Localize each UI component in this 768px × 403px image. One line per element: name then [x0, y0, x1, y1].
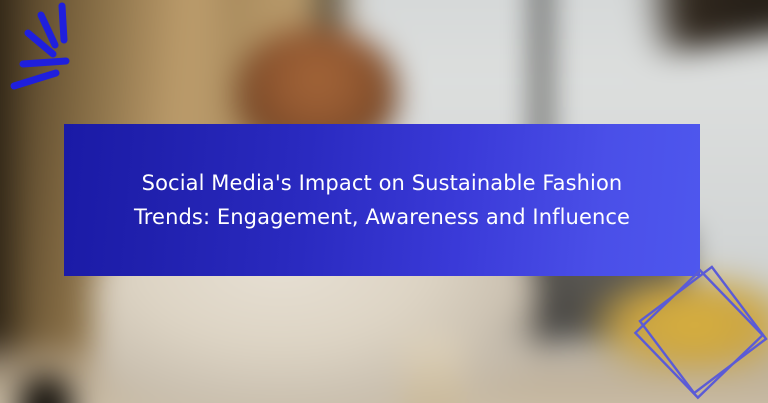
background-desk-glass	[401, 336, 465, 403]
decorative-square-1	[635, 270, 762, 397]
sparkle-burst-icon	[0, 0, 130, 105]
decorative-square-2	[640, 267, 766, 393]
sparkle-ray-1	[14, 73, 56, 86]
hero-banner-image: Social Media's Impact on Sustainable Fas…	[0, 0, 768, 403]
sparkle-ray-2	[23, 61, 66, 64]
overlapping-squares-icon	[628, 263, 768, 403]
page-title: Social Media's Impact on Sustainable Fas…	[75, 166, 689, 234]
sparkle-ray-5	[62, 6, 64, 40]
sparkle-ray-4	[41, 15, 55, 45]
title-banner: Social Media's Impact on Sustainable Fas…	[64, 124, 700, 276]
